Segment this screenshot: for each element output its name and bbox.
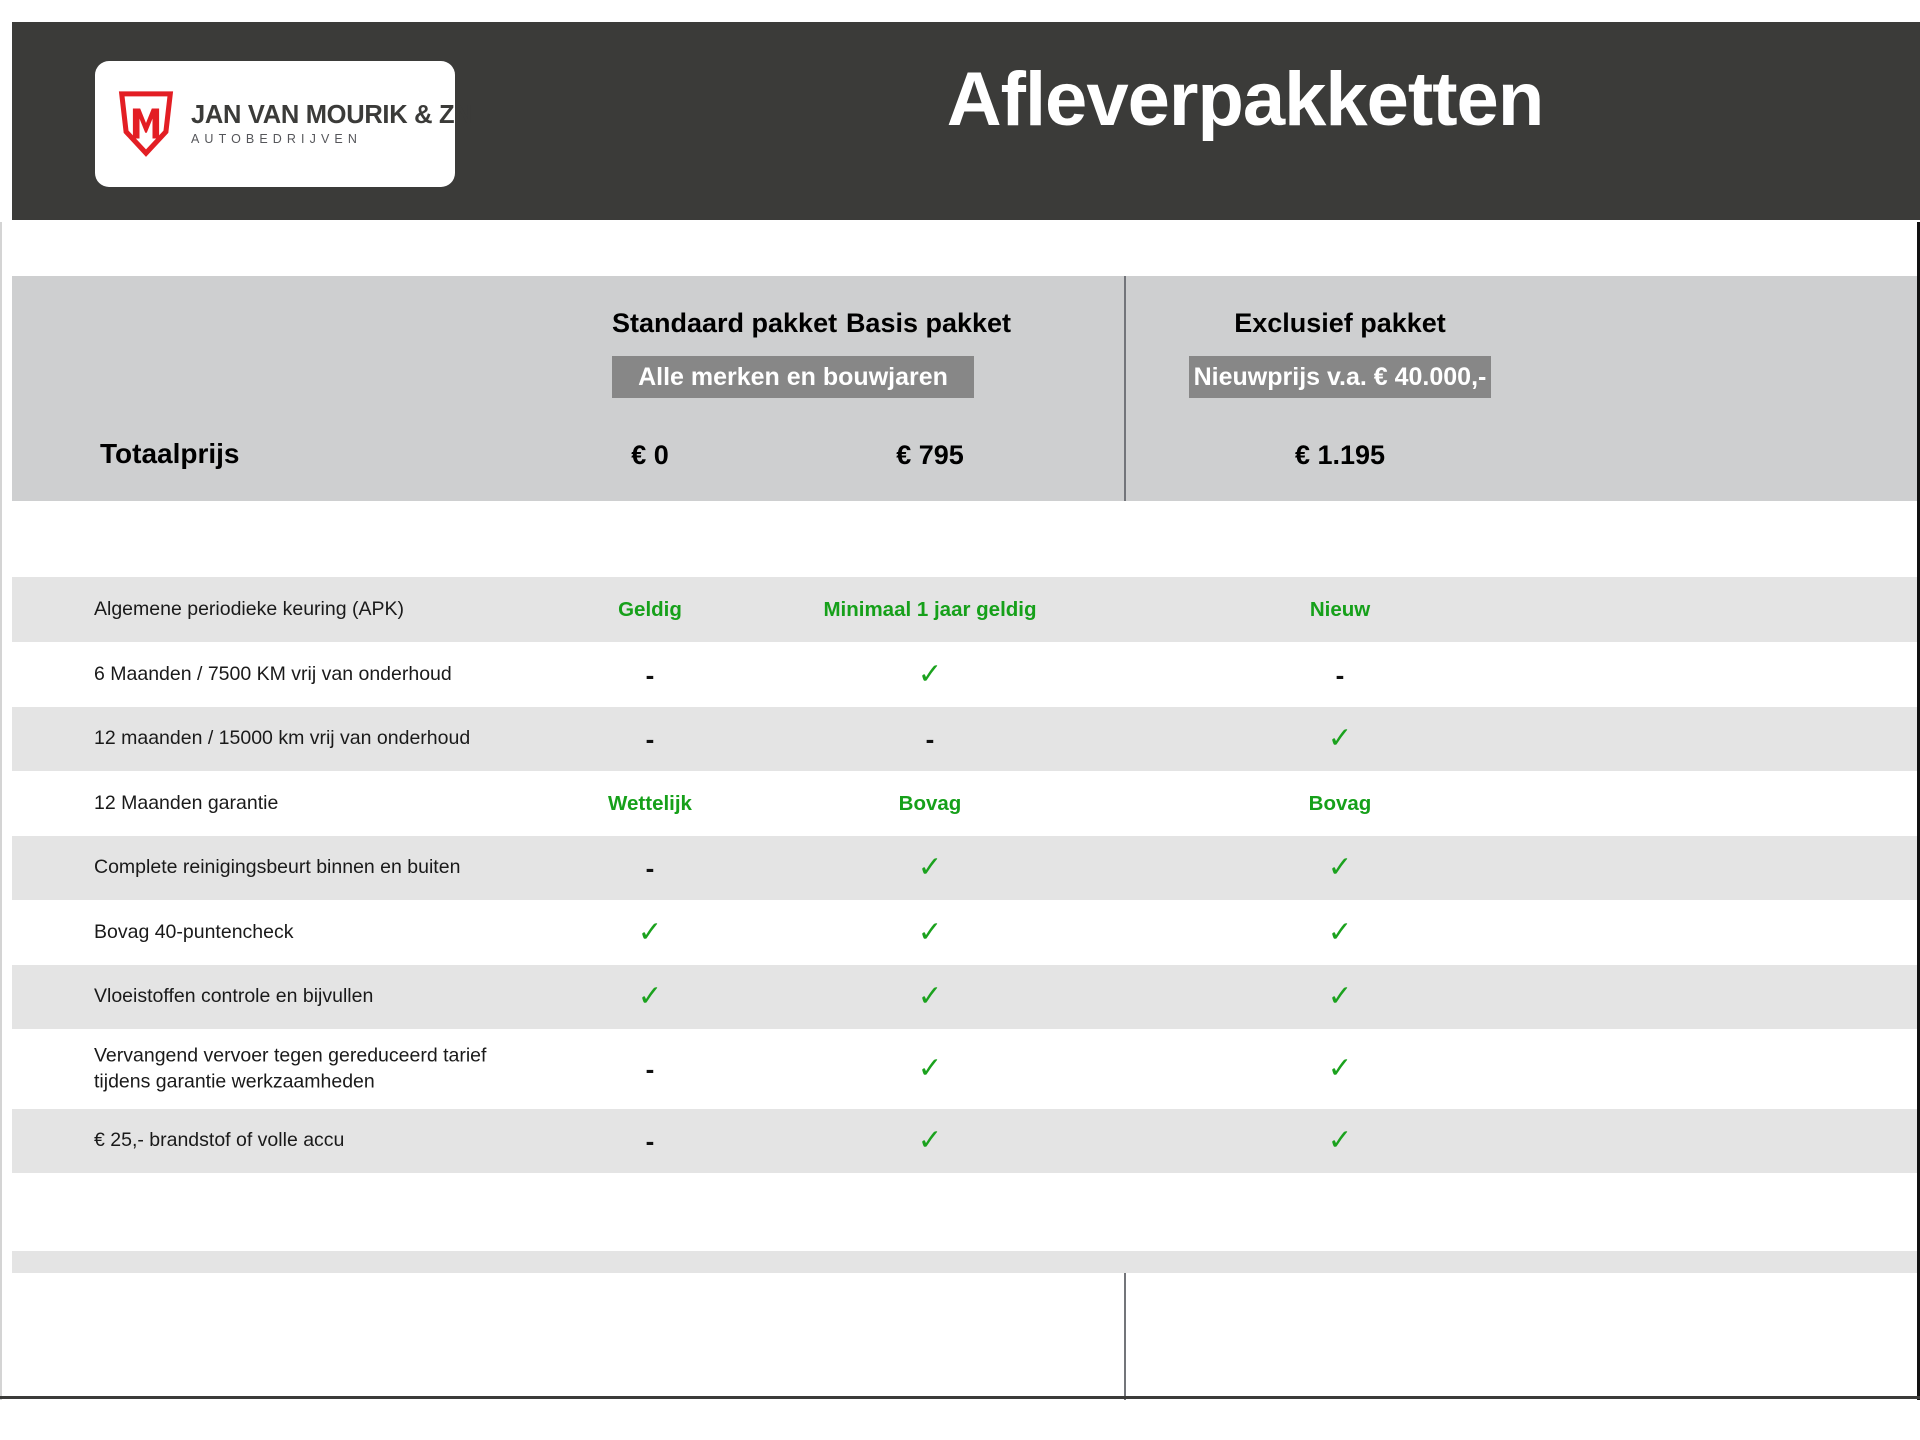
bottom-rule <box>0 1396 1920 1399</box>
column-title-basis: Basis pakket <box>836 308 1021 339</box>
rows-bottom-spacer <box>0 1173 1920 1251</box>
feature-value-standaard: - <box>560 662 740 688</box>
row-cells: 12 maanden / 15000 km vrij van onderhoud… <box>0 707 1920 771</box>
total-price-basis: € 795 <box>840 440 1020 471</box>
feature-value-standaard: Geldig <box>560 598 740 622</box>
feature-value-exclusief: - <box>1250 662 1430 688</box>
feature-row: Bovag 40-puntencheck✓✓✓ <box>0 900 1920 965</box>
row-cells: 12 Maanden garantieWettelijkBovagBovag <box>0 771 1920 836</box>
column-title-exclusief: Exclusief pakket <box>1210 308 1470 339</box>
feature-value-basis: ✓ <box>820 983 1040 1012</box>
company-logo-card: JAN VAN MOURIK & ZN AUTOBEDRIJVEN <box>95 61 455 187</box>
feature-value-exclusief: Bovag <box>1250 792 1430 816</box>
logo-company-subtitle: AUTOBEDRIJVEN <box>191 132 472 146</box>
row-cells: 6 Maanden / 7500 KM vrij van onderhoud-✓… <box>0 642 1920 707</box>
left-edge-rule <box>0 222 2 1400</box>
logo-wordmark: JAN VAN MOURIK & ZN AUTOBEDRIJVEN <box>191 102 472 147</box>
row-cells: € 25,- brandstof of volle accu-✓✓ <box>0 1109 1920 1173</box>
feature-rows: Algemene periodieke keuring (APK)GeldigM… <box>0 501 1920 1273</box>
feature-value-exclusief: Nieuw <box>1250 598 1430 622</box>
row-cells: Complete reinigingsbeurt binnen en buite… <box>0 836 1920 900</box>
feature-value-exclusief: ✓ <box>1250 854 1430 883</box>
feature-label: 12 Maanden garantie <box>94 791 534 817</box>
logo-company-name: JAN VAN MOURIK & ZN <box>191 102 472 129</box>
row-background <box>12 1251 1920 1273</box>
badge-nieuwprijs: Nieuwprijs v.a. € 40.000,- <box>1189 356 1491 398</box>
feature-label: € 25,- brandstof of volle accu <box>94 1128 534 1154</box>
feature-value-basis: ✓ <box>820 660 1040 689</box>
feature-label: Complete reinigingsbeurt binnen en buite… <box>94 855 534 881</box>
feature-value-basis: Bovag <box>820 792 1040 816</box>
feature-row: Vervangend vervoer tegen gereduceerd tar… <box>0 1029 1920 1109</box>
feature-label: Algemene periodieke keuring (APK) <box>94 597 534 623</box>
total-price-exclusief: € 1.195 <box>1250 440 1430 471</box>
feature-value-basis: ✓ <box>820 918 1040 947</box>
rows-bottom-shade <box>0 1251 1920 1273</box>
feature-label: Vervangend vervoer tegen gereduceerd tar… <box>94 1043 534 1094</box>
feature-value-standaard: - <box>560 1056 740 1082</box>
row-cells: Bovag 40-puntencheck✓✓✓ <box>0 900 1920 965</box>
feature-value-standaard: ✓ <box>560 918 740 947</box>
feature-value-basis: ✓ <box>820 1055 1040 1084</box>
feature-value-exclusief: ✓ <box>1250 1055 1430 1084</box>
shield-m-icon <box>117 91 175 157</box>
feature-label: Vloeistoffen controle en bijvullen <box>94 984 534 1010</box>
feature-row: Complete reinigingsbeurt binnen en buite… <box>0 836 1920 900</box>
feature-value-exclusief: ✓ <box>1250 1127 1430 1156</box>
rows-top-spacer <box>0 501 1920 577</box>
feature-row: 6 Maanden / 7500 KM vrij van onderhoud-✓… <box>0 642 1920 707</box>
feature-value-exclusief: ✓ <box>1250 983 1430 1012</box>
badge-alle-merken: Alle merken en bouwjaren <box>612 356 974 398</box>
feature-value-standaard: - <box>560 726 740 752</box>
feature-row: Algemene periodieke keuring (APK)GeldigM… <box>0 577 1920 642</box>
feature-value-standaard: ✓ <box>560 983 740 1012</box>
feature-value-standaard: - <box>560 1128 740 1154</box>
feature-row: Vloeistoffen controle en bijvullen✓✓✓ <box>0 965 1920 1029</box>
row-cells: Algemene periodieke keuring (APK)GeldigM… <box>0 577 1920 642</box>
row-cells: Vervangend vervoer tegen gereduceerd tar… <box>0 1029 1920 1109</box>
afleverpakketten-sheet: JAN VAN MOURIK & ZN AUTOBEDRIJVEN Afleve… <box>0 0 1920 1440</box>
feature-value-basis: - <box>820 726 1040 752</box>
column-title-standaard: Standaard pakket <box>612 308 807 339</box>
feature-value-basis: ✓ <box>820 1127 1040 1156</box>
feature-row: 12 Maanden garantieWettelijkBovagBovag <box>0 771 1920 836</box>
row-cells: Vloeistoffen controle en bijvullen✓✓✓ <box>0 965 1920 1029</box>
page-title: Afleverpakketten <box>570 0 1920 198</box>
feature-value-standaard: Wettelijk <box>560 792 740 816</box>
feature-value-exclusief: ✓ <box>1250 725 1430 754</box>
feature-value-basis: ✓ <box>820 854 1040 883</box>
feature-label: 6 Maanden / 7500 KM vrij van onderhoud <box>94 662 534 688</box>
feature-value-standaard: - <box>560 855 740 881</box>
feature-value-exclusief: ✓ <box>1250 918 1430 947</box>
feature-value-basis: Minimaal 1 jaar geldig <box>820 598 1040 622</box>
feature-label: 12 maanden / 15000 km vrij van onderhoud <box>94 726 534 752</box>
feature-label: Bovag 40-puntencheck <box>94 920 534 946</box>
feature-row: € 25,- brandstof of volle accu-✓✓ <box>0 1109 1920 1173</box>
feature-row: 12 maanden / 15000 km vrij van onderhoud… <box>0 707 1920 771</box>
total-price-standaard: € 0 <box>560 440 740 471</box>
total-price-label: Totaalprijs <box>100 438 240 470</box>
